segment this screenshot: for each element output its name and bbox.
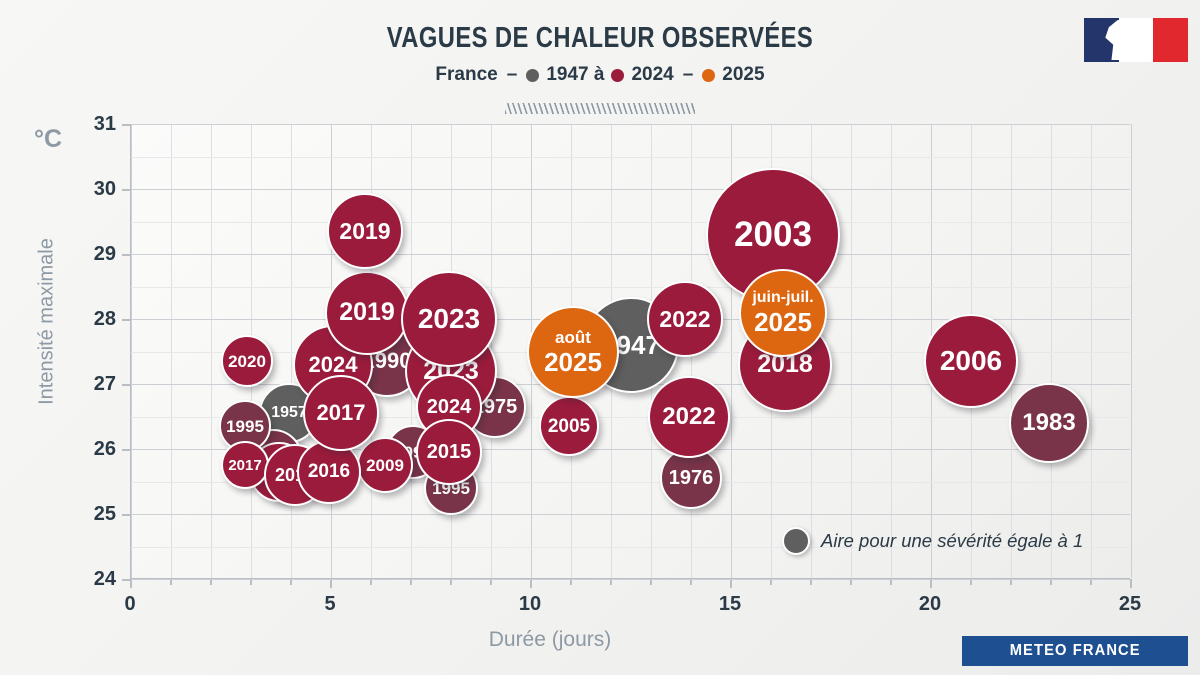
bubble-data-point[interactable]: 2023 — [401, 271, 497, 367]
subtitle-separator-2: – — [681, 64, 696, 86]
x-axis-tick-label: 10 — [507, 593, 553, 616]
bubble-year-label: 2016 — [308, 462, 350, 481]
bubble-year-label: 1995 — [226, 418, 264, 435]
bubble-year-label: 2006 — [940, 347, 1002, 375]
bubble-data-point[interactable]: 2009 — [357, 437, 413, 493]
meteo-france-label: METEO FRANCE — [1009, 642, 1140, 660]
bubble-year-label: 2003 — [734, 217, 812, 252]
chart-subtitle: France – 1947 à 2024 – 2025 — [0, 64, 1200, 86]
x-axis-tick-label: 25 — [1107, 593, 1153, 616]
bubble-year-label: 2015 — [427, 442, 472, 462]
grid-line-horizontal — [131, 157, 1130, 158]
chart-plot-area: 1947195719991975199019762023199519952017… — [130, 124, 1130, 579]
size-legend: Aire pour une sévérité égale à 1 — [782, 527, 1083, 555]
bubble-prefix-label: juin-juil. — [752, 290, 813, 306]
y-axis-tick-label: 27 — [72, 373, 116, 396]
bubble-year-label: 2022 — [662, 405, 715, 429]
bubble-data-point[interactable]: 1983 — [1009, 383, 1089, 463]
bubble-data-point[interactable]: 2015 — [416, 419, 482, 485]
y-axis-tick-label: 31 — [72, 113, 116, 136]
subtitle-current-year: 2025 — [722, 64, 764, 86]
bubble-year-label: 2019 — [339, 300, 395, 325]
bubble-data-point[interactable]: juin-juil.2025 — [739, 269, 827, 357]
bubble-year-label: 2017 — [317, 402, 366, 424]
legend-dot-reference — [526, 69, 539, 82]
y-axis-tick-label: 29 — [72, 243, 116, 266]
bubble-year-label: 2022 — [659, 308, 710, 331]
bubble-year-label: 1976 — [669, 468, 714, 488]
bubble-year-label: 2020 — [228, 353, 266, 370]
bubble-data-point[interactable]: 2022 — [647, 281, 723, 357]
x-axis-tick-label: 20 — [907, 593, 953, 616]
y-axis-tick-mark — [122, 189, 130, 191]
legend-dot-historic — [611, 69, 624, 82]
marianne-logo-icon — [1084, 18, 1188, 62]
bubble-year-label: 2023 — [418, 305, 480, 333]
grid-line-horizontal — [131, 124, 1130, 125]
x-axis-tick-label: 15 — [707, 593, 753, 616]
y-axis-tick-mark — [122, 384, 130, 386]
bubble-data-point[interactable]: août2025 — [527, 306, 619, 398]
y-axis-tick-mark — [122, 514, 130, 516]
subtitle-range-from: 1947 à — [546, 64, 604, 86]
bubble-year-label: 2005 — [548, 417, 590, 436]
y-axis-title: Intensité maximale — [36, 157, 59, 487]
page-title: VAGUES DE CHALEUR OBSERVÉES — [108, 22, 1092, 55]
bubble-year-label: 2019 — [339, 220, 390, 243]
subtitle-country: France — [435, 64, 497, 86]
bubble-year-label: 1983 — [1022, 411, 1075, 435]
grid-line-horizontal — [131, 189, 1130, 190]
x-axis-tick-mark — [130, 579, 132, 588]
bubble-year-label: 1957 — [271, 405, 307, 421]
y-axis-tick-mark — [122, 579, 130, 581]
size-legend-label: Aire pour une sévérité égale à 1 — [821, 530, 1083, 552]
y-axis-tick-mark — [122, 254, 130, 256]
bubble-data-point[interactable]: 2022 — [648, 376, 730, 458]
hatch-decoration — [505, 103, 695, 114]
y-axis-tick-mark — [122, 124, 130, 126]
bubble-data-point[interactable]: 2005 — [539, 396, 599, 456]
subtitle-range-to: 2024 — [631, 64, 673, 86]
x-axis-title: Durée (jours) — [330, 628, 770, 652]
grid-line-horizontal — [131, 287, 1130, 288]
x-axis-tick-mark — [1130, 579, 1132, 588]
bubble-year-label: 2017 — [228, 458, 261, 473]
x-axis-tick-mark — [930, 579, 932, 588]
y-axis-tick-label: 28 — [72, 308, 116, 331]
x-axis-tick-label: 0 — [107, 593, 153, 616]
x-axis-tick-mark — [330, 579, 332, 588]
y-axis-tick-label: 26 — [72, 438, 116, 461]
y-axis-tick-mark — [122, 319, 130, 321]
subtitle-separator-1: – — [505, 64, 520, 86]
grid-line-vertical — [1131, 124, 1132, 578]
grid-line-horizontal — [131, 222, 1130, 223]
bubble-data-point[interactable]: 2006 — [924, 314, 1018, 408]
size-legend-dot — [782, 527, 810, 555]
bubble-year-label: 2025 — [754, 309, 812, 335]
x-axis-tick-label: 5 — [307, 593, 353, 616]
grid-line-horizontal — [131, 579, 1130, 580]
meteo-france-logo: METEO FRANCE — [962, 636, 1188, 666]
grid-line-horizontal — [131, 514, 1130, 515]
x-axis-tick-mark — [730, 579, 732, 588]
bubble-data-point[interactable]: 2017 — [221, 441, 269, 489]
y-axis-tick-label: 30 — [72, 178, 116, 201]
grid-line-horizontal — [131, 254, 1130, 255]
bubble-year-label: 2025 — [544, 349, 602, 375]
y-axis-tick-mark — [122, 449, 130, 451]
y-axis-unit: °C — [34, 125, 62, 154]
bubble-data-point[interactable]: 2019 — [327, 193, 403, 269]
bubble-year-label: 2024 — [427, 397, 472, 417]
bubble-data-point[interactable]: 2017 — [303, 375, 379, 451]
bubble-prefix-label: août — [555, 329, 591, 346]
bubble-year-label: 2009 — [366, 457, 404, 474]
bubble-year-label: 2024 — [309, 354, 358, 376]
bubble-data-point[interactable]: 2020 — [221, 335, 273, 387]
legend-dot-current — [702, 69, 715, 82]
y-axis-tick-label: 24 — [72, 568, 116, 591]
y-axis-tick-label: 25 — [72, 503, 116, 526]
chart-header: VAGUES DE CHALEUR OBSERVÉES France – 194… — [0, 0, 1200, 100]
x-axis-tick-mark — [530, 579, 532, 588]
bubble-data-point[interactable]: 2019 — [325, 271, 409, 355]
